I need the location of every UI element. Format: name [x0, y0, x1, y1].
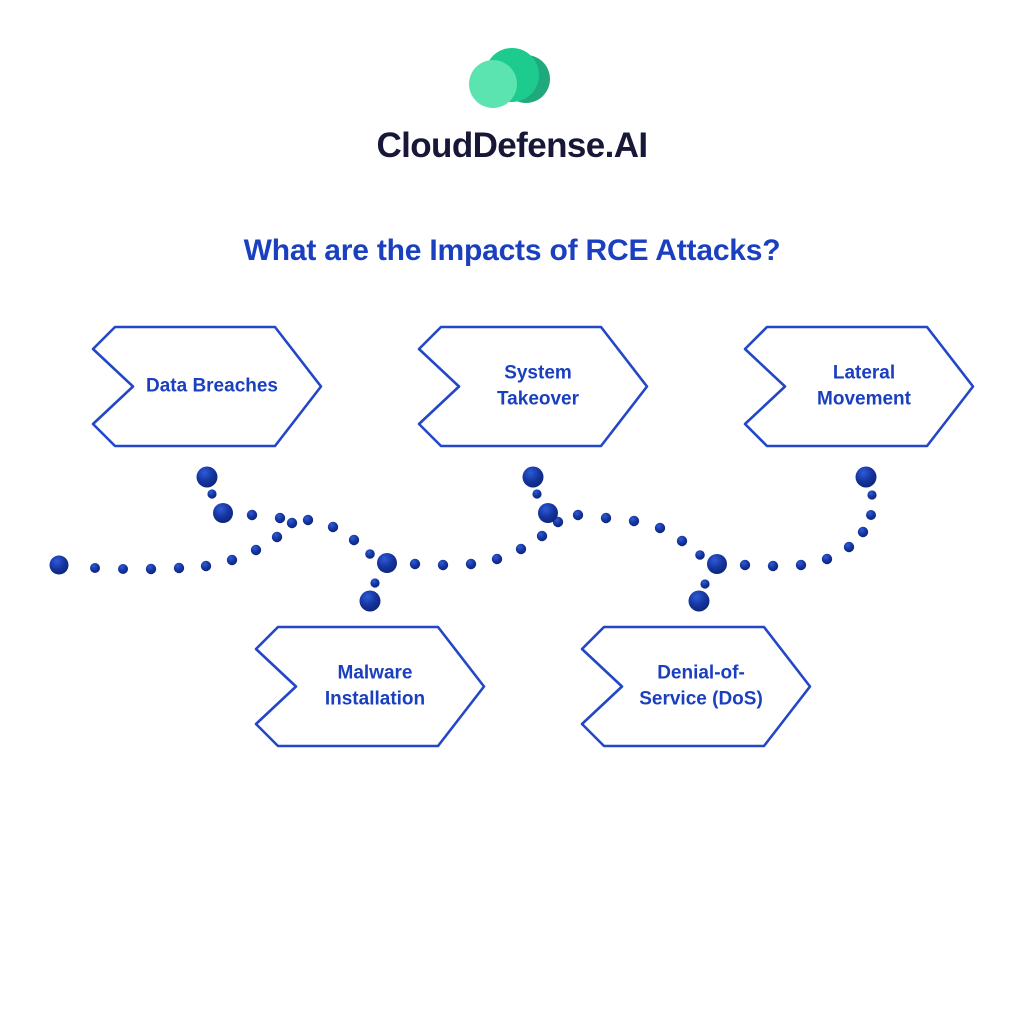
path-node-dot — [360, 591, 381, 612]
path-dot — [700, 579, 709, 588]
path-dot — [844, 542, 854, 552]
process-banners: Data BreachesSystemTakeoverLateralMoveme… — [93, 327, 973, 746]
path-dot — [655, 523, 665, 533]
path-dot — [695, 550, 705, 560]
banner-label-line: Service (DoS) — [639, 689, 763, 710]
banner-label-line: Denial-of- — [657, 663, 745, 684]
path-dot — [858, 527, 868, 537]
banner-label-line: Data Breaches — [146, 376, 278, 397]
banner-system-takeover[interactable]: SystemTakeover — [419, 327, 647, 446]
path-node-dot — [213, 503, 233, 523]
path-dot — [537, 531, 547, 541]
path-node-dot — [50, 556, 69, 575]
banner-outline-denial-of-service — [582, 627, 810, 746]
path-node-dot — [689, 591, 710, 612]
path-dot — [90, 563, 100, 573]
path-node-dot — [538, 503, 558, 523]
path-node-dot — [197, 467, 218, 488]
path-node-dot — [707, 554, 727, 574]
path-dot — [370, 578, 379, 587]
path-dot — [466, 559, 476, 569]
path-node-dot — [523, 467, 544, 488]
path-dot — [822, 554, 832, 564]
banner-malware-installation[interactable]: MalwareInstallation — [256, 627, 484, 746]
banner-label-line: Lateral — [833, 363, 895, 384]
path-dot — [410, 559, 420, 569]
path-dot — [438, 560, 448, 570]
impacts-diagram: Data BreachesSystemTakeoverLateralMoveme… — [0, 0, 1024, 1024]
banner-data-breaches[interactable]: Data Breaches — [93, 327, 321, 446]
path-dot — [201, 561, 211, 571]
path-dot — [174, 563, 184, 573]
path-dot — [146, 564, 156, 574]
path-node-dot — [377, 553, 397, 573]
path-dot — [272, 532, 282, 542]
banner-label-line: Malware — [338, 663, 413, 684]
path-dot — [247, 510, 257, 520]
banner-label-line: System — [504, 363, 572, 384]
banner-label-line: Movement — [817, 389, 912, 410]
path-dot — [677, 536, 687, 546]
path-dot — [866, 510, 876, 520]
path-dot — [328, 522, 338, 532]
path-dot — [629, 516, 639, 526]
banner-denial-of-service[interactable]: Denial-of-Service (DoS) — [582, 627, 810, 746]
banner-outline-malware-installation — [256, 627, 484, 746]
path-dot — [601, 513, 611, 523]
banner-label-data-breaches: Data Breaches — [146, 376, 278, 397]
path-dot — [532, 489, 541, 498]
banner-outline-system-takeover — [419, 327, 647, 446]
path-dot — [207, 489, 216, 498]
path-dot — [251, 545, 261, 555]
banner-label-line: Takeover — [497, 389, 580, 410]
path-dot — [303, 515, 313, 525]
path-dot — [573, 510, 583, 520]
path-dot — [349, 535, 359, 545]
path-dot — [516, 544, 526, 554]
banner-lateral-movement[interactable]: LateralMovement — [745, 327, 973, 446]
path-dot — [275, 513, 285, 523]
banner-outline-lateral-movement — [745, 327, 973, 446]
path-dot — [768, 561, 778, 571]
path-node-dot — [856, 467, 877, 488]
path-dot — [867, 490, 876, 499]
process-path-dots — [50, 467, 877, 612]
path-dot — [227, 555, 237, 565]
path-dot — [796, 560, 806, 570]
infographic-canvas: CloudDefense.AI What are the Impacts of … — [0, 0, 1024, 1024]
banner-label-line: Installation — [325, 689, 425, 710]
path-dot — [118, 564, 128, 574]
path-dot — [365, 549, 375, 559]
path-dot — [740, 560, 750, 570]
path-dot — [287, 518, 297, 528]
path-dot — [492, 554, 502, 564]
